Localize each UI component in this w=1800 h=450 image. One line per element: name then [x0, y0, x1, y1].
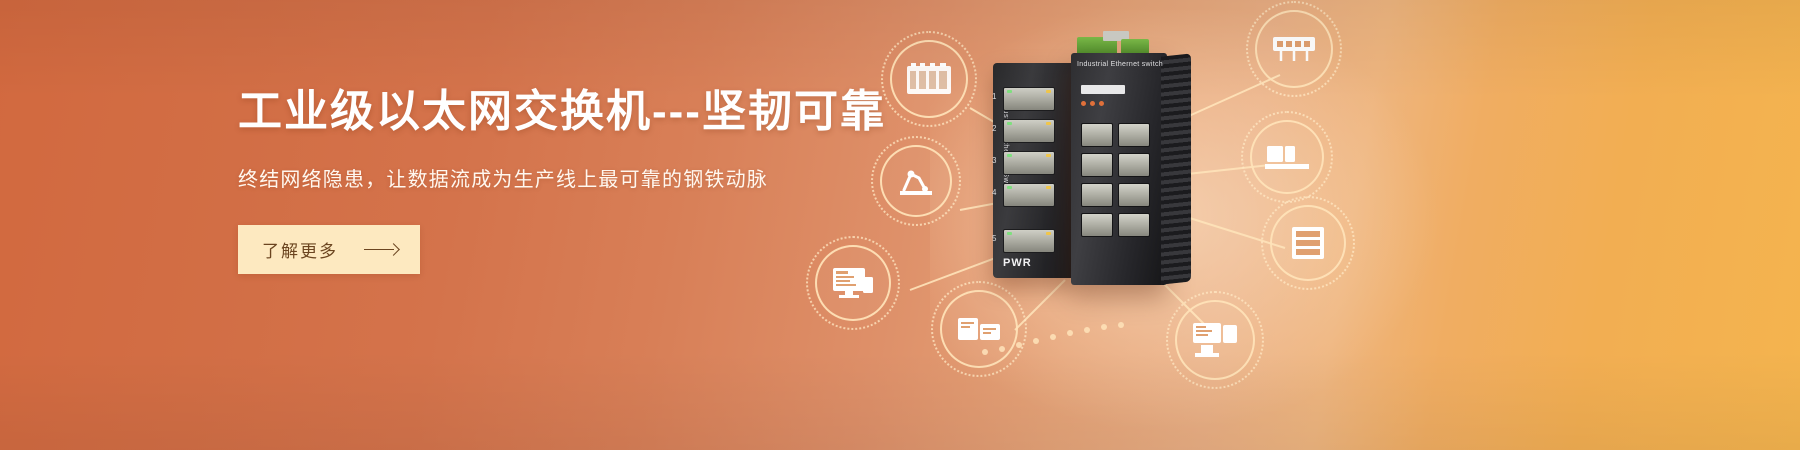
model-label-badge	[1081, 85, 1125, 94]
learn-more-label: 了解更多	[262, 237, 338, 262]
power-label: PWR	[1003, 257, 1032, 269]
port-act-led	[1046, 186, 1051, 189]
node-din-rail-module[interactable]	[1250, 120, 1324, 194]
port-link-led	[1007, 122, 1012, 125]
port-act-led	[1046, 122, 1051, 125]
rj45-port	[1118, 183, 1150, 207]
ethernet-port: 2	[1003, 119, 1055, 143]
port-number: 2	[992, 124, 996, 133]
node-plc-controller[interactable]	[890, 40, 968, 118]
arrow-right-icon	[364, 244, 398, 255]
port-act-led	[1046, 154, 1051, 157]
rj45-port-grid	[1081, 123, 1157, 243]
status-led-row	[1081, 101, 1104, 106]
industrial-ethernet-switch-device: Industrial Ethernet Switch Industrial Et…	[985, 45, 1200, 295]
ethernet-port: 3	[1003, 151, 1055, 175]
learn-more-button[interactable]: 了解更多	[238, 225, 420, 274]
hero-banner: 工业级以太网交换机---坚韧可靠 终结网络隐患，让数据流成为生产线上最可靠的钢铁…	[0, 0, 1800, 450]
rj45-row	[1081, 183, 1157, 207]
plc-rack-icon	[890, 40, 968, 118]
port-act-led	[1046, 90, 1051, 93]
port-act-led	[1046, 232, 1051, 235]
network-gateway-icon	[1255, 10, 1333, 88]
rj45-port	[1081, 183, 1113, 207]
robot-arm-icon	[880, 145, 952, 217]
node-server-cabinet[interactable]	[1270, 205, 1346, 281]
rj45-port	[1118, 213, 1150, 237]
ethernet-port: 5	[1003, 229, 1055, 253]
node-workstation-monitor[interactable]	[815, 245, 891, 321]
rj45-port	[1118, 123, 1150, 147]
rj45-port	[1081, 123, 1113, 147]
rj45-port	[1081, 213, 1113, 237]
node-cnc-machine[interactable]	[940, 290, 1018, 368]
rj45-port	[1118, 153, 1150, 177]
port-link-led	[1007, 90, 1012, 93]
hmi-terminal-icon	[1175, 300, 1255, 380]
switch-top-label: Industrial Ethernet switch	[1077, 61, 1163, 68]
din-rail-icon	[1250, 120, 1324, 194]
node-network-gateway[interactable]	[1255, 10, 1333, 88]
server-cabinet-icon	[1270, 205, 1346, 281]
port-link-led	[1007, 232, 1012, 235]
port-number: 5	[992, 234, 996, 243]
heatsink-fins	[1161, 53, 1191, 284]
product-illustration: Industrial Ethernet Switch Industrial Et…	[780, 0, 1800, 450]
rj45-row	[1081, 123, 1157, 147]
rj45-row	[1081, 213, 1157, 237]
port-number: 1	[992, 92, 996, 101]
rj45-row	[1081, 153, 1157, 177]
port-column-left: 1 2 3 4	[1003, 87, 1059, 261]
port-link-led	[1007, 154, 1012, 157]
port-link-led	[1007, 186, 1012, 189]
port-number: 4	[992, 188, 996, 197]
node-robot-arm[interactable]	[880, 145, 952, 217]
desktop-monitor-icon	[815, 245, 891, 321]
cnc-machine-icon	[940, 290, 1018, 368]
node-hmi-terminal[interactable]	[1175, 300, 1255, 380]
port-number: 3	[992, 156, 996, 165]
ethernet-port: 4	[1003, 183, 1055, 207]
ethernet-port: 1	[1003, 87, 1055, 111]
rj45-port	[1081, 153, 1113, 177]
